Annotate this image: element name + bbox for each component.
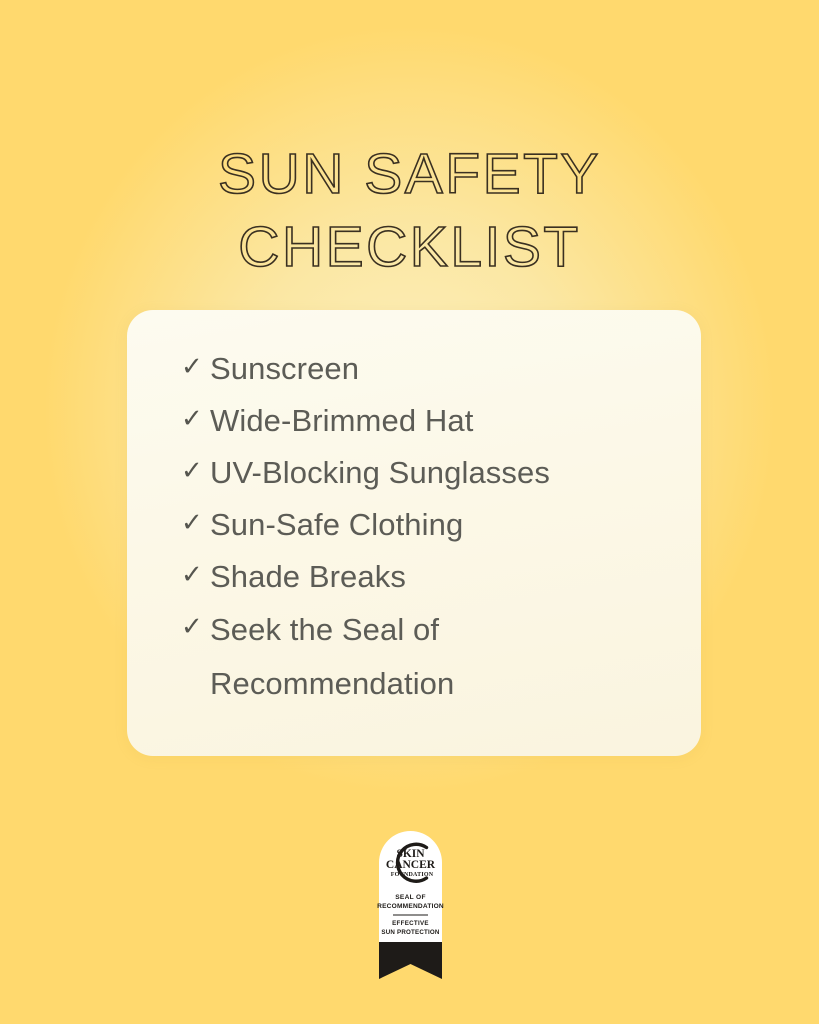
seal-brand-line-2: CANCER xyxy=(386,859,436,871)
list-item-label: UV-Blocking Sunglasses xyxy=(210,447,681,499)
seal-headline-line-1: SEAL OF xyxy=(395,894,426,901)
list-item: ✓ Sunscreen xyxy=(181,343,681,395)
list-item-label-line-1: Seek the Seal of xyxy=(210,603,681,657)
check-icon: ✓ xyxy=(181,343,210,395)
check-icon: ✓ xyxy=(181,499,210,551)
seal-headline-line-2: RECOMMENDATION xyxy=(377,903,444,910)
list-item-label: Wide-Brimmed Hat xyxy=(210,395,681,447)
title-line-1: SUN SAFETY xyxy=(0,138,819,211)
list-item: ✓ Shade Breaks xyxy=(181,551,681,603)
poster-canvas: SUN SAFETY CHECKLIST ✓ Sunscreen ✓ Wide-… xyxy=(0,0,819,1024)
list-item: ✓ Wide-Brimmed Hat xyxy=(181,395,681,447)
checklist: ✓ Sunscreen ✓ Wide-Brimmed Hat ✓ UV-Bloc… xyxy=(181,343,681,711)
check-icon: ✓ xyxy=(181,603,210,655)
list-item: ✓ Sun-Safe Clothing xyxy=(181,499,681,551)
checklist-card: ✓ Sunscreen ✓ Wide-Brimmed Hat ✓ UV-Bloc… xyxy=(127,310,701,756)
check-icon: ✓ xyxy=(181,551,210,603)
title-line-2: CHECKLIST xyxy=(0,211,819,284)
seal-subline-line-2: SUN PROTECTION xyxy=(381,929,439,936)
seal-of-recommendation-badge: SKIN CANCER FOUNDATION SEAL OF RECOMMEND… xyxy=(369,821,452,979)
list-item-label: Sun-Safe Clothing xyxy=(210,499,681,551)
seal-brand-line-3: FOUNDATION xyxy=(391,872,434,878)
check-icon: ✓ xyxy=(181,447,210,499)
list-item-label: Seek the Seal of Recommendation xyxy=(210,603,681,711)
seal-badge-icon: SKIN CANCER FOUNDATION SEAL OF RECOMMEND… xyxy=(369,821,452,979)
page-title: SUN SAFETY CHECKLIST xyxy=(0,138,819,284)
list-item: ✓ UV-Blocking Sunglasses xyxy=(181,447,681,499)
list-item-label: Sunscreen xyxy=(210,343,681,395)
check-icon: ✓ xyxy=(181,395,210,447)
seal-subline-line-1: EFFECTIVE xyxy=(392,920,429,927)
list-item-label-line-2: Recommendation xyxy=(210,657,681,711)
list-item-label: Shade Breaks xyxy=(210,551,681,603)
list-item: ✓ Seek the Seal of Recommendation xyxy=(181,603,681,711)
